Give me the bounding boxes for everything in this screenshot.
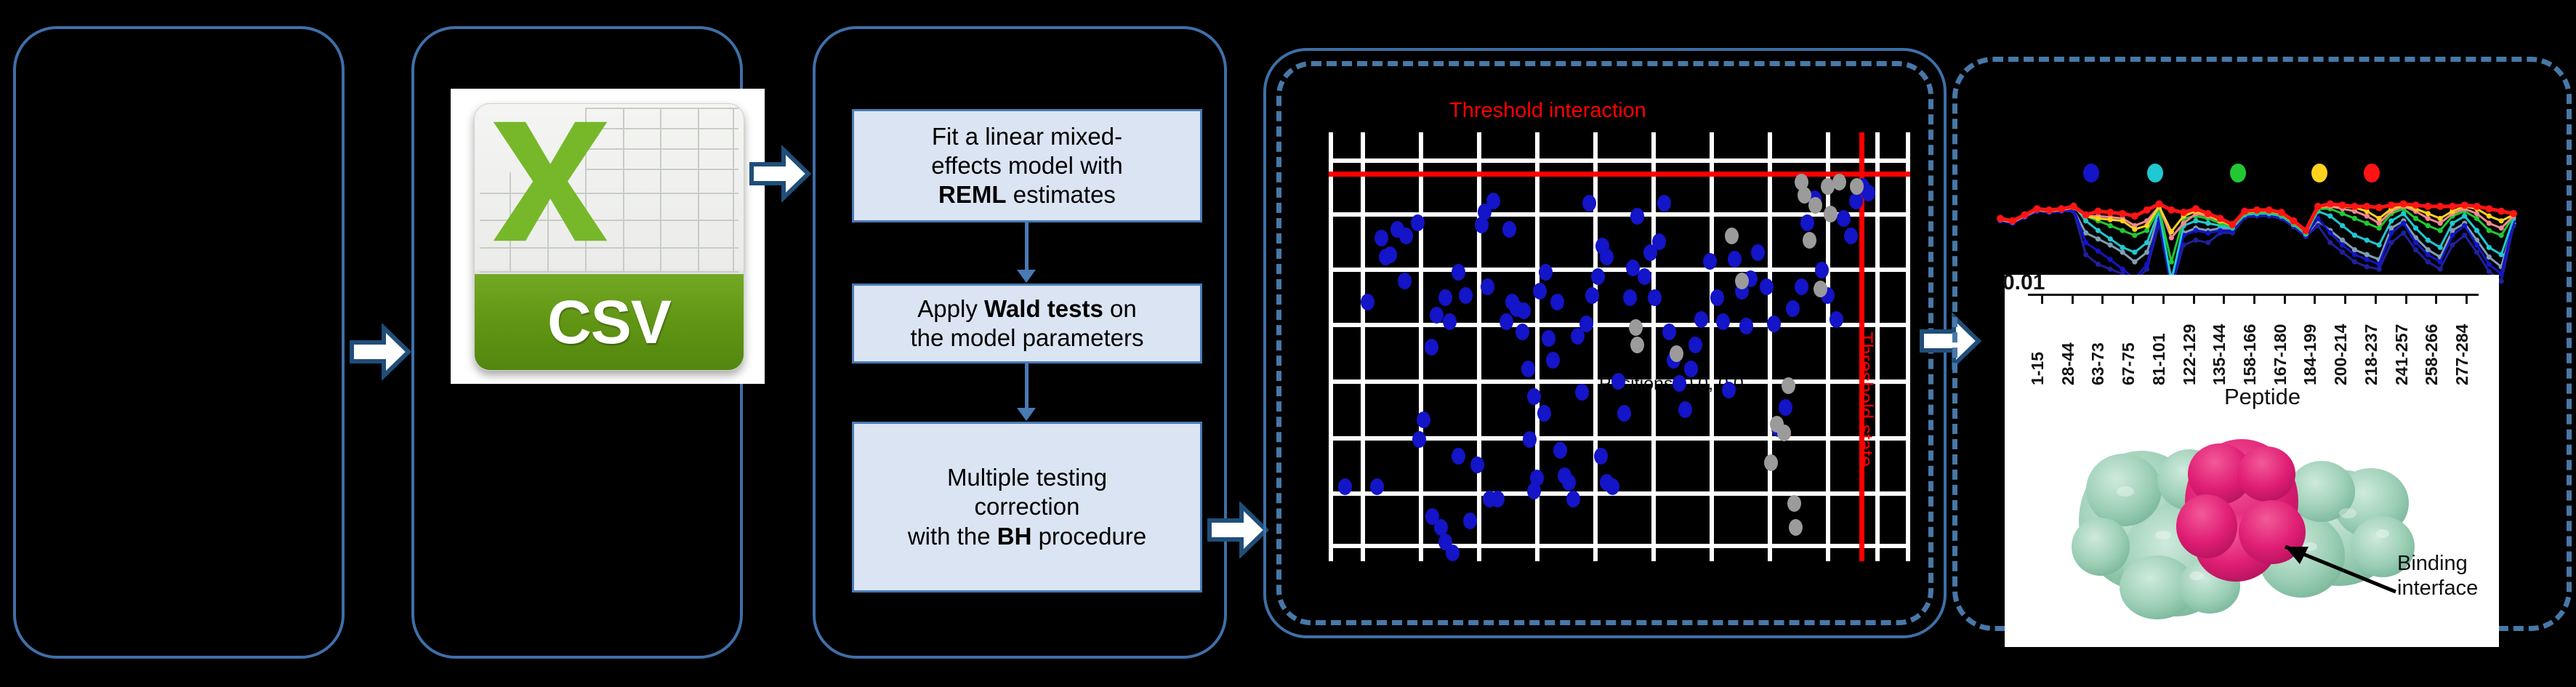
volcano-point — [1527, 483, 1541, 499]
volcano-point — [1500, 313, 1513, 330]
peptide-tick — [2223, 294, 2225, 304]
series-marker — [2438, 260, 2443, 265]
volcano-point — [1553, 442, 1567, 459]
volcano-point — [1815, 262, 1829, 278]
volcano-point — [1703, 253, 1717, 270]
connector-wald-to-bh — [1025, 363, 1029, 409]
volcano-point — [1459, 287, 1473, 304]
volcano-point — [1591, 268, 1605, 285]
series-marker — [2485, 205, 2492, 212]
connector-fit-to-wald — [1025, 222, 1029, 270]
series-marker — [2193, 218, 2198, 223]
peptide-tick-label: 167-180 — [2271, 324, 2290, 385]
peptide-tick — [2405, 294, 2407, 304]
volcano-point — [1425, 339, 1438, 355]
series-marker — [2401, 230, 2406, 236]
series-marker — [2474, 242, 2479, 247]
series-marker — [2205, 221, 2210, 226]
volcano-point — [1767, 316, 1781, 332]
peptide-tick-label: 122-129 — [2180, 324, 2199, 385]
series-marker — [2474, 211, 2479, 216]
volcano-point — [1463, 513, 1477, 529]
series-marker — [2462, 214, 2467, 219]
bh-bold: BH — [997, 523, 1032, 550]
series-marker — [2401, 211, 2406, 216]
peptide-tick — [2162, 294, 2165, 304]
volcano-point — [1533, 283, 1547, 300]
volcano-point — [1629, 319, 1643, 336]
series-marker — [2108, 267, 2113, 272]
series-marker — [2426, 252, 2431, 257]
peptide-tick-label: 81-101 — [2149, 333, 2169, 385]
series-marker — [2169, 235, 2174, 240]
volcano-point — [1398, 273, 1412, 289]
volcano-point — [1361, 294, 1374, 310]
volcano-point — [1412, 431, 1426, 448]
volcano-point — [1446, 545, 1460, 561]
volcano-point — [1579, 316, 1593, 332]
series-marker — [2474, 228, 2479, 233]
peptide-tick — [2466, 294, 2468, 304]
volcano-point — [1430, 307, 1444, 324]
series-marker — [2314, 203, 2322, 210]
volcano-point — [1657, 195, 1671, 212]
series-marker — [2132, 260, 2137, 265]
volcano-title: Threshold interaction — [1449, 99, 1646, 123]
legend-dot-2 — [2147, 164, 2163, 182]
volcano-point — [1684, 361, 1698, 377]
peptide-tick — [2041, 294, 2043, 304]
series-marker — [2327, 230, 2333, 236]
series-marker — [2009, 217, 2016, 225]
series-marker — [2266, 206, 2273, 214]
series-marker — [2376, 262, 2381, 267]
series-marker — [2120, 245, 2125, 250]
volcano-plot: Threshold interaction Positions — [1295, 92, 1915, 600]
series-marker — [2364, 264, 2370, 269]
series-marker — [2083, 240, 2088, 245]
volcano-point — [1861, 185, 1875, 201]
series-marker — [2192, 205, 2199, 212]
series-marker — [2144, 262, 2149, 267]
series-marker — [2156, 201, 2163, 208]
volcano-point — [1443, 313, 1457, 330]
volcano-point-cloud — [1329, 132, 1910, 561]
series-marker — [1997, 214, 2004, 222]
volcano-point — [1470, 457, 1484, 473]
volcano-point — [1787, 495, 1801, 512]
series-marker — [2327, 214, 2333, 219]
series-marker — [2241, 208, 2248, 215]
volcano-point — [1546, 352, 1560, 369]
series-marker — [2119, 210, 2126, 217]
series-marker — [2340, 211, 2345, 216]
volcano-point — [1338, 478, 1352, 495]
series-marker — [2413, 240, 2418, 245]
series-marker — [2376, 221, 2381, 226]
volcano-point — [1523, 431, 1537, 448]
volcano-point — [1803, 232, 1816, 249]
series-marker — [2096, 236, 2101, 241]
volcano-point — [1735, 273, 1749, 289]
volcano-point — [1751, 244, 1765, 261]
series-marker — [2462, 223, 2467, 228]
series-marker — [2021, 212, 2029, 219]
series-marker — [2096, 249, 2101, 254]
series-marker — [2375, 204, 2383, 212]
protein-structure-image — [2054, 404, 2461, 637]
series-marker — [2388, 240, 2394, 245]
volcano-point — [1370, 478, 1384, 495]
series-marker — [2376, 242, 2381, 247]
bh-line1: Multiple testing — [947, 464, 1107, 491]
series-marker — [2205, 230, 2210, 236]
volcano-point — [1539, 264, 1553, 281]
volcano-point — [1502, 221, 1516, 238]
series-marker — [2339, 201, 2346, 209]
series-marker — [2487, 262, 2492, 267]
series-marker — [2352, 252, 2357, 257]
series-marker — [2497, 208, 2505, 215]
series-marker — [2169, 260, 2174, 265]
y-axis-tick-001: 0.01 — [2003, 270, 2045, 295]
peptide-tick-label: 277-284 — [2452, 324, 2472, 385]
series-marker — [2376, 267, 2381, 272]
series-marker — [2436, 203, 2444, 210]
series-marker — [2499, 252, 2504, 257]
csv-file-icon: CSV — [474, 103, 744, 371]
volcano-point — [1611, 373, 1625, 390]
series-marker — [2499, 225, 2504, 230]
volcano-point — [1521, 361, 1535, 377]
series-marker — [2106, 209, 2114, 216]
series-marker — [2438, 245, 2443, 250]
series-marker — [2426, 211, 2431, 216]
series-marker — [2413, 247, 2418, 252]
series-marker — [2205, 240, 2210, 245]
series-marker — [2450, 242, 2455, 247]
volcano-point — [1585, 287, 1599, 304]
series-marker — [2340, 242, 2345, 247]
series-marker — [2438, 267, 2443, 272]
volcano-point — [1550, 294, 1564, 310]
arrow-input-to-csv — [349, 324, 411, 380]
series-marker — [2096, 262, 2101, 267]
series-marker — [2438, 221, 2443, 226]
volcano-point — [1800, 214, 1814, 231]
excel-x-glyph-icon — [488, 115, 612, 248]
series-marker — [2132, 249, 2137, 254]
series-marker — [2364, 221, 2370, 226]
bh-line3-post: procedure — [1031, 523, 1146, 550]
series-marker — [2376, 216, 2381, 221]
series-marker — [2487, 254, 2492, 260]
series-marker — [2108, 236, 2113, 241]
volcano-point — [1566, 491, 1580, 507]
volcano-point — [1795, 278, 1808, 295]
volcano-plot-area: Positions: 0.0, 0.0 — [1329, 132, 1910, 561]
series-marker — [2424, 203, 2431, 210]
series-marker — [2108, 223, 2113, 228]
series-marker — [2352, 247, 2357, 252]
series-marker — [2218, 228, 2223, 233]
series-marker — [2058, 205, 2065, 212]
series-marker — [2426, 223, 2431, 228]
volcano-point — [1374, 230, 1388, 246]
peptide-tick — [2284, 294, 2286, 304]
series-marker — [2510, 210, 2517, 217]
peptide-tick-label: 218-237 — [2362, 324, 2381, 385]
series-marker — [2045, 206, 2053, 214]
series-marker — [2487, 214, 2492, 219]
series-marker — [2438, 228, 2443, 233]
volcano-point — [1562, 474, 1576, 491]
series-marker — [2108, 217, 2113, 222]
volcano-point — [1849, 193, 1863, 209]
peptide-tick-label: 241-257 — [2392, 324, 2412, 385]
series-marker — [2461, 201, 2468, 209]
volcano-point — [1844, 228, 1858, 244]
step-box-wald-tests: Apply Wald tests on the model parameters — [852, 284, 1202, 363]
series-marker — [2290, 217, 2297, 225]
series-marker — [2450, 233, 2455, 238]
series-marker — [2144, 228, 2149, 233]
volcano-point — [1638, 268, 1651, 285]
series-marker — [2426, 216, 2431, 221]
series-marker — [2340, 249, 2345, 254]
volcano-point — [1673, 375, 1686, 392]
binding-interface-label: Binding interface — [2397, 551, 2478, 600]
series-marker — [2340, 223, 2345, 228]
volcano-point — [1710, 289, 1724, 306]
volcano-point — [1808, 197, 1822, 214]
volcano-point — [1837, 210, 1851, 227]
series-marker — [2083, 252, 2088, 257]
volcano-point — [1777, 425, 1791, 441]
legend-dot-1 — [2083, 164, 2099, 182]
volcano-point — [1517, 302, 1531, 319]
volcano-point — [1617, 405, 1631, 422]
series-marker — [2474, 203, 2481, 210]
series-marker — [2388, 201, 2395, 209]
volcano-point — [1537, 405, 1551, 422]
series-marker — [2474, 249, 2479, 254]
peptide-tick-label: 63-73 — [2088, 342, 2108, 385]
series-marker — [2144, 206, 2151, 214]
series-marker — [2487, 228, 2492, 233]
wald-line1-post: on — [1103, 295, 1137, 322]
series-marker — [2253, 206, 2261, 214]
series-marker — [2352, 260, 2357, 265]
series-marker — [2120, 267, 2125, 272]
peptide-tick — [2072, 294, 2074, 304]
series-marker — [2033, 205, 2040, 212]
volcano-point — [1623, 289, 1637, 306]
volcano-point — [1832, 174, 1846, 190]
volcano-point — [1486, 193, 1500, 209]
volcano-point — [1760, 278, 1774, 295]
volcano-point — [1670, 345, 1683, 362]
series-marker — [2412, 201, 2420, 209]
peptide-tick-label: 1-15 — [2028, 352, 2048, 385]
series-marker — [2388, 218, 2394, 223]
bh-line3-pre: with the — [908, 523, 997, 550]
threshold-state-label: Threshold state — [1854, 332, 1877, 467]
series-marker — [2096, 228, 2101, 233]
series-marker — [2401, 221, 2406, 226]
peptide-tick-label: 184-199 — [2301, 324, 2320, 385]
volcano-point — [1722, 382, 1736, 398]
peptide-tick-label: 200-214 — [2331, 324, 2351, 385]
fit-model-reml: REML — [938, 181, 1007, 208]
series-marker — [2120, 249, 2125, 254]
series-marker — [2205, 210, 2212, 217]
volcano-point — [1789, 519, 1803, 536]
fit-model-line3-rest: estimates — [1007, 181, 1116, 208]
volcano-point — [1411, 214, 1425, 231]
volcano-point — [1830, 311, 1843, 328]
wald-line1-pre: Apply — [917, 295, 984, 322]
volcano-point — [1399, 228, 1413, 244]
volcano-point — [1764, 454, 1778, 471]
series-marker — [2083, 218, 2088, 223]
volcano-point — [1662, 324, 1676, 340]
series-marker — [2144, 240, 2149, 245]
series-marker — [2388, 230, 2394, 236]
series-marker — [2499, 233, 2504, 238]
volcano-point — [1594, 448, 1608, 465]
peptide-tick-labels: 1-1528-4463-7367-7581-101122-129135-1441… — [2028, 305, 2479, 385]
peptide-tick — [2314, 294, 2316, 304]
series-marker — [2352, 216, 2357, 221]
series-marker — [2094, 208, 2101, 215]
series-marker — [2131, 212, 2138, 220]
volcano-point — [1786, 300, 1800, 317]
series-marker — [2193, 238, 2198, 243]
series-marker — [2499, 218, 2504, 223]
volcano-point — [1575, 384, 1589, 401]
csv-label-band: CSV — [475, 274, 744, 370]
volcano-point — [1434, 519, 1448, 536]
series-marker — [2487, 245, 2492, 250]
series-marker — [2217, 214, 2224, 222]
series-marker — [2449, 203, 2456, 210]
peptide-tick — [2132, 294, 2134, 304]
series-marker — [2376, 225, 2381, 230]
volcano-point — [1582, 195, 1596, 212]
series-marker — [2180, 209, 2187, 216]
volcano-point — [1630, 337, 1644, 353]
series-marker — [2487, 221, 2492, 226]
series-marker — [2438, 216, 2443, 221]
volcano-point — [1606, 478, 1619, 495]
series-marker — [2302, 227, 2309, 234]
series-marker — [2413, 225, 2418, 230]
pipeline-figure: CSV Fit a linear mixed- effects model wi… — [0, 0, 2576, 687]
series-marker — [2120, 228, 2125, 233]
volcano-point — [1630, 208, 1644, 225]
peptide-tick — [2435, 294, 2437, 304]
volcano-point — [1782, 377, 1795, 394]
series-marker — [2082, 212, 2090, 219]
volcano-point — [1542, 330, 1555, 347]
volcano-point — [1725, 228, 1739, 244]
volcano-point — [1438, 289, 1452, 306]
volcano-point — [1648, 289, 1662, 306]
bh-line2: correction — [975, 493, 1080, 520]
series-marker — [2327, 201, 2334, 208]
peptide-tick — [2375, 294, 2377, 304]
series-marker — [2096, 216, 2101, 221]
peptide-tick-label: 67-75 — [2119, 342, 2138, 385]
series-marker — [2363, 203, 2370, 210]
peptide-tick — [2344, 294, 2346, 304]
fit-model-line1: Fit a linear mixed- — [932, 123, 1122, 150]
volcano-point — [1452, 448, 1465, 465]
peptide-tick — [2193, 294, 2195, 304]
peptide-tick-label: 28-44 — [2058, 342, 2078, 385]
volcano-point — [1600, 249, 1614, 265]
peptide-tick — [2101, 294, 2104, 304]
volcano-point — [1481, 278, 1494, 295]
volcano-point — [1491, 491, 1505, 507]
series-marker — [2278, 209, 2285, 216]
series-marker — [2327, 240, 2333, 245]
legend-dot-3 — [2230, 164, 2246, 182]
volcano-point — [1824, 206, 1838, 222]
series-marker — [2499, 271, 2504, 276]
volcano-point — [1728, 251, 1742, 268]
volcano-point — [1652, 233, 1666, 250]
legend-dot-5 — [2364, 164, 2380, 182]
volcano-point — [1417, 411, 1430, 428]
csv-type-label: CSV — [547, 287, 671, 358]
input-data-panel — [13, 26, 345, 659]
series-marker — [2168, 206, 2175, 214]
series-marker — [2400, 201, 2407, 208]
wald-line2: the model parameters — [911, 324, 1144, 351]
wald-bold: Wald tests — [984, 295, 1103, 322]
series-marker — [2487, 269, 2492, 274]
volcano-point — [1678, 401, 1692, 418]
step-box-bh-correction: Multiple testing correction with the BH … — [852, 422, 1202, 592]
volcano-point — [1689, 337, 1702, 353]
volcano-point — [1527, 388, 1541, 405]
peptide-tick-label: 158-166 — [2240, 324, 2260, 385]
arrow-stats-to-volcano — [1207, 502, 1269, 558]
series-marker — [2132, 233, 2137, 238]
binding-label-line2: interface — [2397, 576, 2478, 600]
peptide-tick-label: 135-144 — [2210, 324, 2229, 385]
series-marker — [2499, 278, 2504, 284]
volcano-point — [1739, 318, 1753, 334]
volcano-point — [1694, 311, 1708, 328]
arrow-csv-to-model — [749, 145, 811, 202]
series-marker — [2364, 252, 2370, 257]
series-marker — [2108, 242, 2113, 247]
series-marker — [2070, 203, 2077, 210]
peptide-axis-ticks — [2028, 294, 2479, 305]
series-marker — [2144, 223, 2149, 228]
fit-model-line2: effects model with — [931, 152, 1123, 179]
series-marker — [2315, 223, 2320, 228]
csv-file-card: CSV — [451, 89, 765, 384]
peptide-tick — [2253, 294, 2255, 304]
volcano-point — [1779, 399, 1792, 416]
volcano-point — [1716, 313, 1730, 330]
series-marker — [2426, 260, 2431, 265]
series-marker — [2474, 216, 2479, 221]
